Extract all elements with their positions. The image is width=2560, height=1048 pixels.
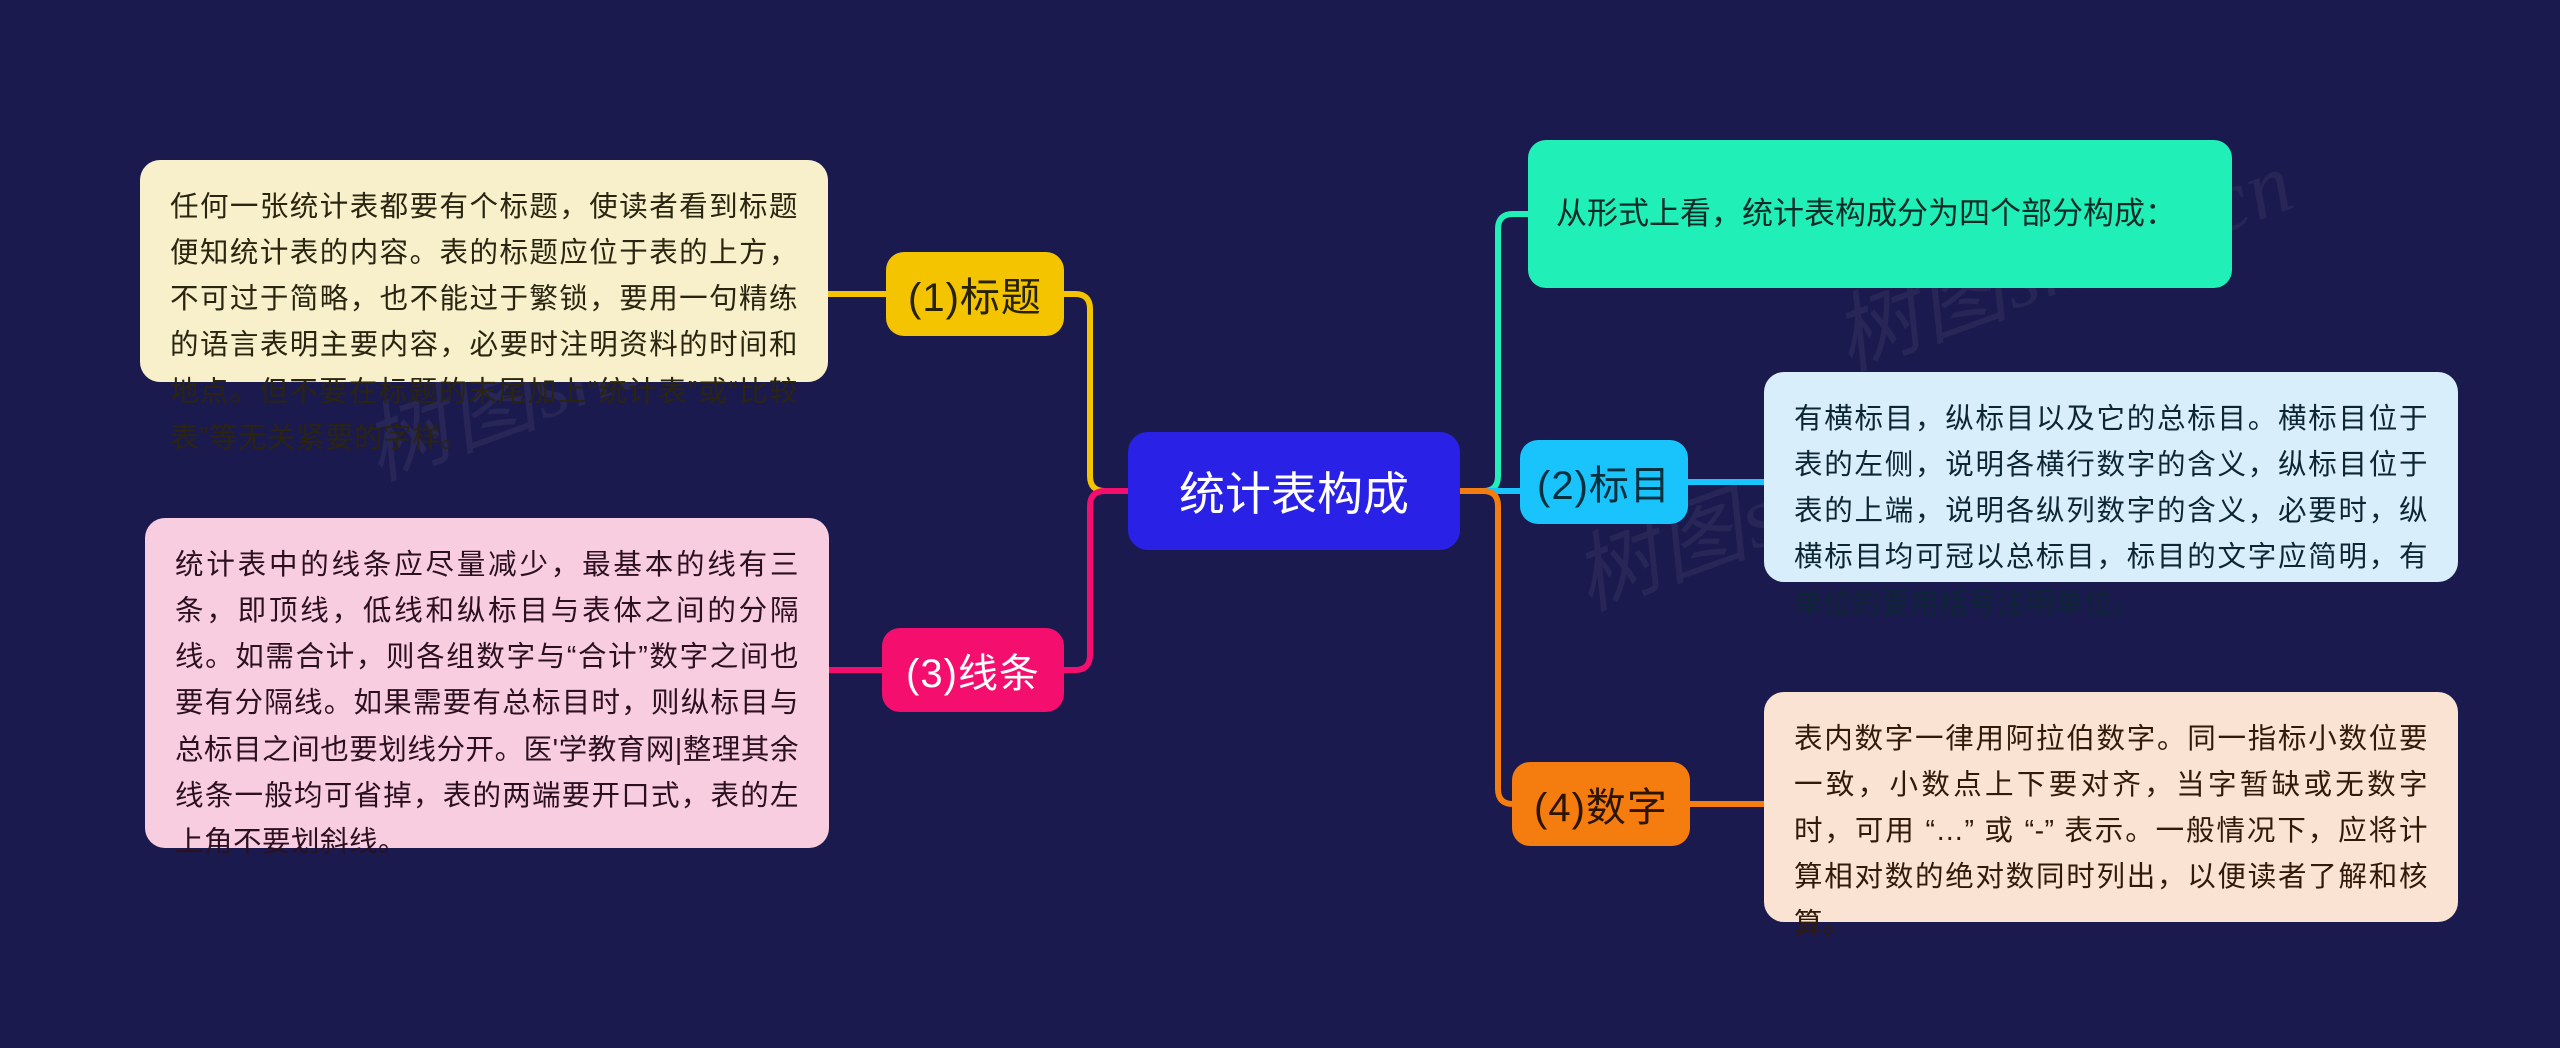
center-node[interactable]: 统计表构成	[1128, 432, 1460, 550]
detail-box-title-text: 任何一张统计表都要有个标题，使读者看到标题便知统计表的内容。表的标题应位于表的上…	[170, 184, 798, 461]
detail-box-shuzi-text: 表内数字一律用阿拉伯数字。同一指标小数位要一致，小数点上下要对齐，当字暂缺或无数…	[1794, 716, 2428, 947]
connector-center-to-xiantiao	[1064, 491, 1128, 670]
detail-box-xiantiao[interactable]: 统计表中的线条应尽量减少，最基本的线有三条，即顶线，低线和纵标目与表体之间的分隔…	[145, 518, 829, 848]
branch-node-intro[interactable]: 从形式上看，统计表构成分为四个部分构成：	[1528, 140, 2232, 288]
detail-box-title[interactable]: 任何一张统计表都要有个标题，使读者看到标题便知统计表的内容。表的标题应位于表的上…	[140, 160, 828, 382]
connector-center-to-shuzi	[1460, 491, 1513, 804]
branch-node-biaomu-label: (2)标目	[1537, 453, 1671, 511]
detail-box-xiantiao-text: 统计表中的线条应尽量减少，最基本的线有三条，即顶线，低线和纵标目与表体之间的分隔…	[175, 542, 799, 865]
detail-box-shuzi[interactable]: 表内数字一律用阿拉伯数字。同一指标小数位要一致，小数点上下要对齐，当字暂缺或无数…	[1764, 692, 2458, 922]
connector-center-to-intro	[1460, 214, 1528, 491]
branch-node-shuzi[interactable]: (4)数字	[1512, 762, 1690, 846]
center-node-label: 统计表构成	[1179, 458, 1409, 524]
detail-box-biaomu-text: 有横标目，纵标目以及它的总标目。横标目位于表的左侧，说明各横行数字的含义，纵标目…	[1794, 396, 2428, 627]
branch-node-shuzi-label: (4)数字	[1534, 775, 1668, 833]
branch-node-title[interactable]: (1)标题	[886, 252, 1064, 336]
detail-box-biaomu[interactable]: 有横标目，纵标目以及它的总标目。横标目位于表的左侧，说明各横行数字的含义，纵标目…	[1764, 372, 2458, 582]
connector-center-to-title	[1064, 294, 1128, 491]
mindmap-canvas: 树图shutu.cn 树图shutu.cn 树图shutu.cn 统计表构成 从…	[0, 0, 2560, 1048]
branch-node-title-label: (1)标题	[908, 265, 1042, 323]
branch-node-xiantiao-label: (3)线条	[906, 641, 1040, 699]
branch-node-xiantiao[interactable]: (3)线条	[882, 628, 1064, 712]
branch-node-biaomu[interactable]: (2)标目	[1520, 440, 1688, 524]
branch-node-intro-label: 从形式上看，统计表构成分为四个部分构成：	[1556, 190, 2176, 238]
